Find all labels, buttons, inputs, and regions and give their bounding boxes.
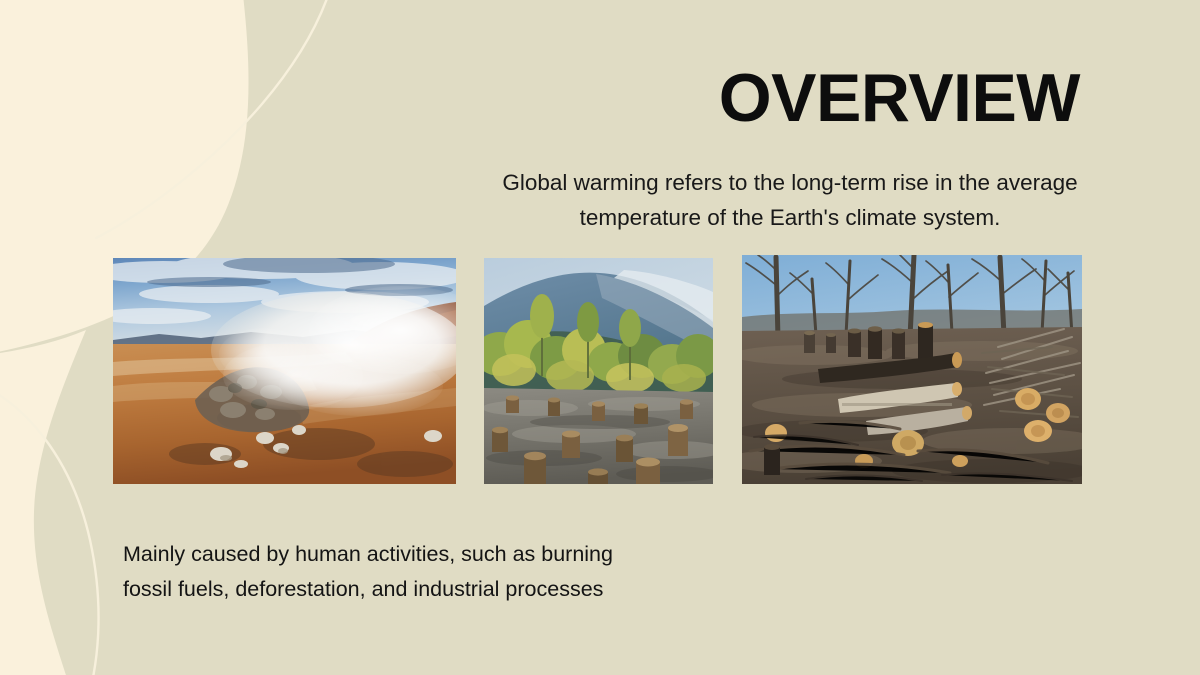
slide-caption: Mainly caused by human activities, such …	[123, 537, 743, 607]
logging-site-photo	[742, 255, 1082, 484]
decorative-arc-top	[96, 0, 330, 238]
geothermal-steam-vent-photo	[113, 258, 456, 484]
decorative-arc-bottom	[0, 384, 99, 675]
cream-wave-bottom-left	[0, 330, 86, 675]
caption-line-2: fossil fuels, deforestation, and industr…	[123, 572, 743, 607]
caption-line-1: Mainly caused by human activities, such …	[123, 537, 743, 572]
subtitle-line-1: Global warming refers to the long-term r…	[502, 170, 990, 195]
slide-title: OVERVIEW	[500, 64, 1080, 132]
slide-overview: OVERVIEW Global warming refers to the lo…	[0, 0, 1200, 675]
deforested-clearing-photo	[484, 258, 713, 484]
slide-subtitle: Global warming refers to the long-term r…	[498, 166, 1082, 236]
